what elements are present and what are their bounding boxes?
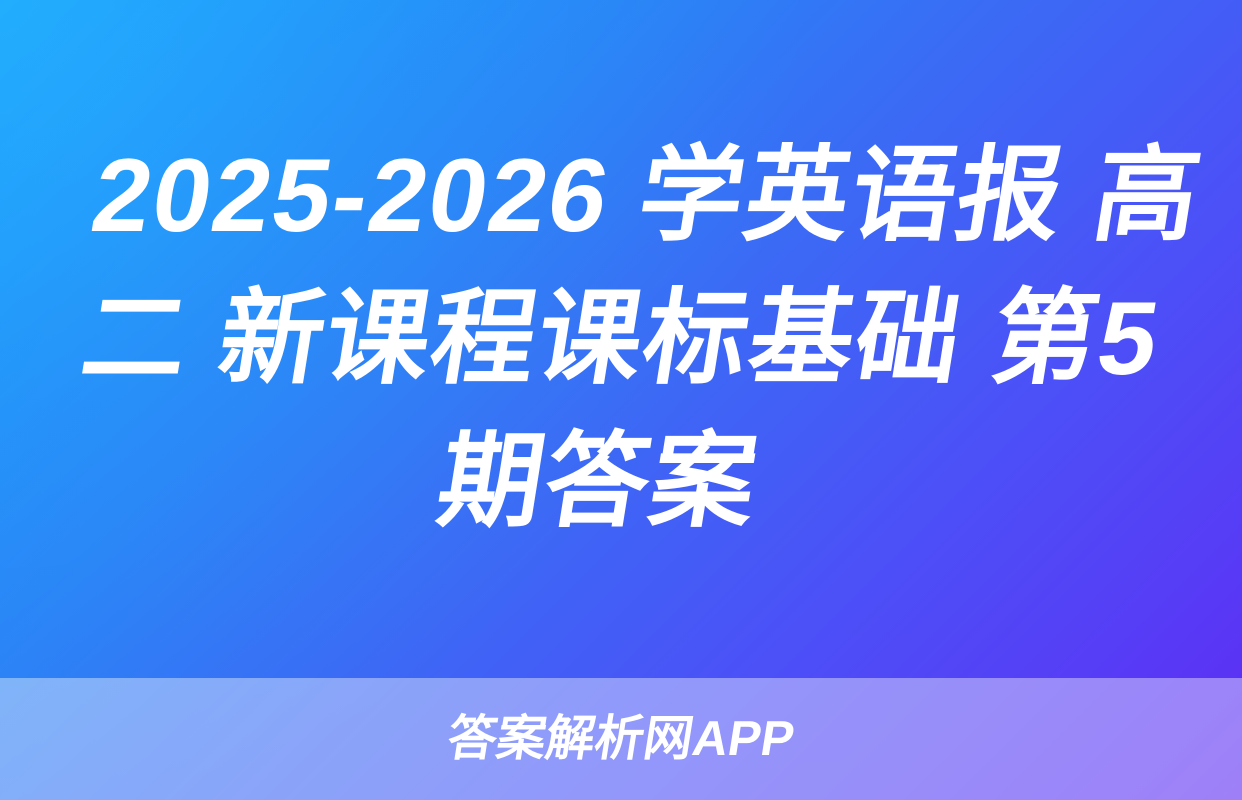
headline-container: 2025-2026 学英语报 高 二 新课程课标基础 第5 期答案 (0, 0, 1242, 678)
page-title: 2025-2026 学英语报 高 二 新课程课标基础 第5 期答案 (37, 125, 1205, 554)
headline-line-2: 二 新课程课标基础 第5 (60, 268, 1183, 411)
headline-line-3: 期答案 (37, 411, 1160, 554)
promo-poster: 2025-2026 学英语报 高 二 新课程课标基础 第5 期答案 答案解析网A… (0, 0, 1242, 800)
app-name-label: 答案解析网APP (444, 715, 798, 764)
headline-line-1: 2025-2026 学英语报 高 (82, 125, 1205, 268)
footer-banner: 答案解析网APP (0, 678, 1242, 800)
